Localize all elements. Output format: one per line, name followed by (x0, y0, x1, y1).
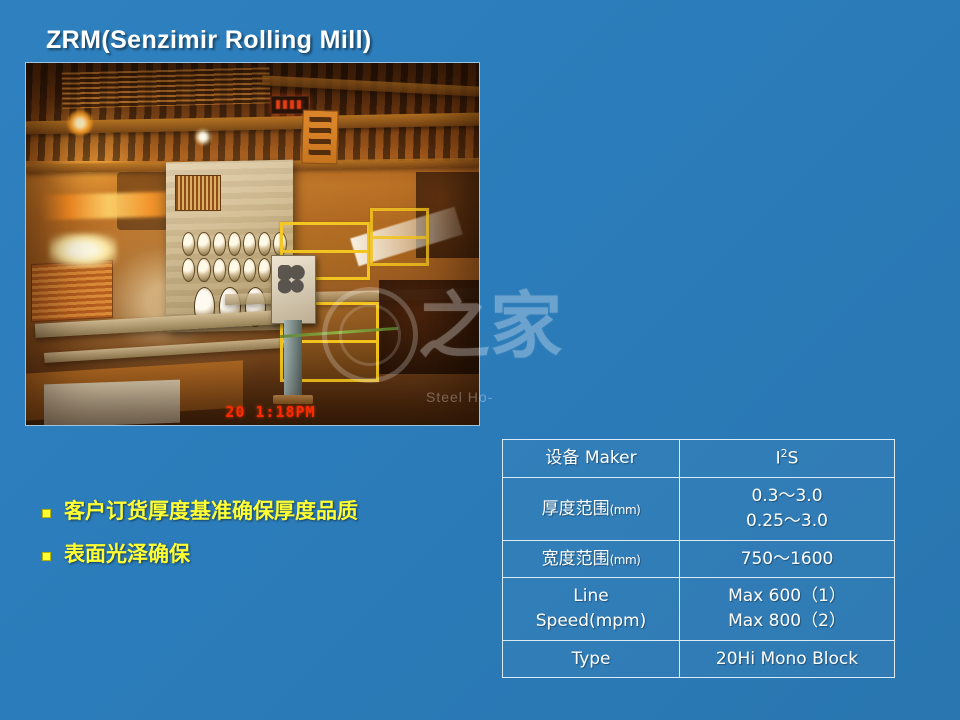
photo-canvas: 20 1:18PM (26, 63, 479, 425)
bullet-square-icon (42, 509, 51, 518)
maker-value-superscript: 2 (781, 447, 788, 460)
maker-label-en: Maker (585, 448, 637, 468)
cell-speed-value: Max 600（1） Max 800（2） (680, 578, 895, 640)
bullet-square-icon (42, 552, 51, 561)
table-row: 设备 Maker I2S (503, 440, 895, 478)
list-item: 客户订货厚度基准确保厚度品质 (42, 498, 472, 525)
photo-vignette (26, 63, 479, 425)
width-label-cn: 宽度范围 (542, 549, 610, 569)
cell-width-label: 宽度范围(mm) (503, 540, 680, 578)
cell-type-value: 20Hi Mono Block (680, 640, 895, 678)
speed-label-line-1: Line (507, 584, 675, 609)
bullet-list: 客户订货厚度基准确保厚度品质 表面光泽确保 (42, 498, 472, 584)
width-label-unit: (mm) (610, 553, 641, 567)
table-row: 厚度范围(mm) 0.3～3.0 0.25～3.0 (503, 478, 895, 540)
table-row: Type 20Hi Mono Block (503, 640, 895, 678)
list-item: 表面光泽确保 (42, 541, 472, 568)
width-value-line-1: 750～1600 (684, 547, 890, 572)
maker-label-cn: 设备 (545, 448, 579, 468)
thickness-value-line-1: 0.3～3.0 (684, 484, 890, 509)
spec-table: 设备 Maker I2S 厚度范围(mm) 0.3～3.0 0.25～3.0 宽… (502, 439, 895, 678)
thickness-label-cn: 厚度范围 (542, 499, 610, 519)
table-row: Line Speed(mpm) Max 600（1） Max 800（2） (503, 578, 895, 640)
slide-root: ZRM(Senzimir Rolling Mill) (0, 0, 960, 720)
cell-maker-label: 设备 Maker (503, 440, 680, 478)
type-value: 20Hi Mono Block (716, 649, 858, 669)
cell-width-value: 750～1600 (680, 540, 895, 578)
cell-type-label: Type (503, 640, 680, 678)
bullet-text: 表面光泽确保 (64, 541, 190, 568)
thickness-label-unit: (mm) (610, 503, 641, 517)
type-label: Type (571, 649, 610, 669)
bullet-text: 客户订货厚度基准确保厚度品质 (64, 498, 358, 525)
speed-value-line-2: Max 800（2） (684, 609, 890, 634)
maker-value-tail: S (788, 449, 799, 469)
cell-maker-value: I2S (680, 440, 895, 478)
mill-photo: 20 1:18PM (25, 62, 480, 426)
speed-label-line-2: Speed(mpm) (507, 609, 675, 634)
table-row: 宽度范围(mm) 750～1600 (503, 540, 895, 578)
cell-thickness-label: 厚度范围(mm) (503, 478, 680, 540)
cell-thickness-value: 0.3～3.0 0.25～3.0 (680, 478, 895, 540)
photo-timestamp: 20 1:18PM (225, 403, 315, 421)
thickness-value-line-2: 0.25～3.0 (684, 509, 890, 534)
page-title: ZRM(Senzimir Rolling Mill) (46, 26, 372, 55)
speed-value-line-1: Max 600（1） (684, 584, 890, 609)
cell-speed-label: Line Speed(mpm) (503, 578, 680, 640)
